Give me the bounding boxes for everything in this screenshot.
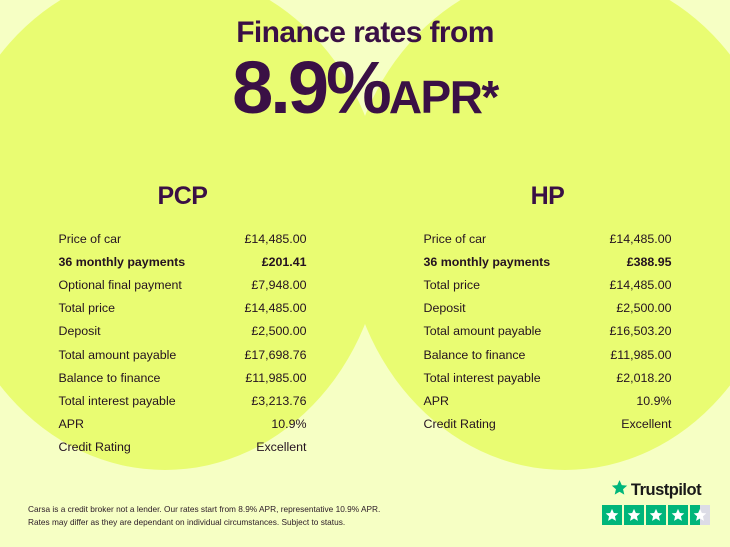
trustpilot-star-filled bbox=[624, 505, 644, 525]
row-label: 36 monthly payments bbox=[59, 255, 186, 269]
trustpilot-rating-widget[interactable]: Trustpilot bbox=[600, 479, 712, 525]
row-label: Total price bbox=[424, 278, 480, 292]
table-row: Deposit£2,500.00 bbox=[424, 297, 672, 320]
table-row: Total amount payable£16,503.20 bbox=[424, 320, 672, 343]
table-row: Total price£14,485.00 bbox=[59, 297, 307, 320]
row-label: Total amount payable bbox=[59, 348, 177, 362]
row-label: Deposit bbox=[59, 324, 101, 338]
legal-disclaimer: Carsa is a credit broker not a lender. O… bbox=[28, 503, 498, 529]
plan-title: PCP bbox=[0, 182, 365, 211]
trustpilot-star-filled bbox=[668, 505, 688, 525]
page-title: Finance rates from bbox=[0, 16, 730, 49]
table-row: Credit RatingExcellent bbox=[424, 413, 672, 436]
row-value: £2,018.20 bbox=[616, 371, 671, 385]
row-label: 36 monthly payments bbox=[424, 255, 551, 269]
row-value: £17,698.76 bbox=[244, 348, 306, 362]
row-label: Total interest payable bbox=[59, 394, 176, 408]
hero-rate-unit: APR* bbox=[389, 71, 498, 123]
table-row: Optional final payment£7,948.00 bbox=[59, 273, 307, 296]
row-value: £388.95 bbox=[627, 255, 672, 269]
table-row: Total interest payable£2,018.20 bbox=[424, 366, 672, 389]
row-value: 10.9% bbox=[636, 394, 671, 408]
row-label: Price of car bbox=[59, 232, 122, 246]
row-value: £7,948.00 bbox=[251, 278, 306, 292]
trustpilot-star-icon bbox=[611, 479, 628, 501]
row-value: £11,985.00 bbox=[610, 348, 671, 362]
finance-plans-comparison: PCPPrice of car£14,485.0036 monthly paym… bbox=[0, 182, 730, 459]
row-value: £14,485.00 bbox=[609, 232, 671, 246]
hero-rate-figure: 8.9% bbox=[232, 46, 389, 129]
trustpilot-stars bbox=[600, 505, 712, 525]
trustpilot-brand: Trustpilot bbox=[600, 479, 712, 501]
table-row: Price of car£14,485.00 bbox=[424, 227, 672, 250]
row-value: £3,213.76 bbox=[251, 394, 306, 408]
table-row: Total price£14,485.00 bbox=[424, 273, 672, 296]
row-value: £14,485.00 bbox=[609, 278, 671, 292]
table-row: Price of car£14,485.00 bbox=[59, 227, 307, 250]
row-label: Credit Rating bbox=[59, 440, 131, 454]
row-value: £14,485.00 bbox=[244, 301, 306, 315]
row-label: Price of car bbox=[424, 232, 487, 246]
row-value: £11,985.00 bbox=[245, 371, 306, 385]
row-value: 10.9% bbox=[271, 417, 306, 431]
trustpilot-star-half bbox=[690, 505, 710, 525]
legal-line-1: Carsa is a credit broker not a lender. O… bbox=[28, 503, 498, 516]
finance-rates-promo-card: Finance rates from 8.9%APR* PCPPrice of … bbox=[0, 0, 730, 547]
table-row: Balance to finance£11,985.00 bbox=[424, 343, 672, 366]
table-row: Deposit£2,500.00 bbox=[59, 320, 307, 343]
row-value: £2,500.00 bbox=[251, 324, 306, 338]
trustpilot-star-filled bbox=[602, 505, 622, 525]
plan-rows: Price of car£14,485.0036 monthly payment… bbox=[424, 227, 672, 436]
table-row: Credit RatingExcellent bbox=[59, 436, 307, 459]
row-value: Excellent bbox=[621, 417, 671, 431]
row-label: Balance to finance bbox=[59, 371, 161, 385]
row-value: Excellent bbox=[256, 440, 306, 454]
row-label: Optional final payment bbox=[59, 278, 182, 292]
finance-plan-hp: HPPrice of car£14,485.0036 monthly payme… bbox=[365, 182, 730, 459]
trustpilot-star-filled bbox=[646, 505, 666, 525]
table-row: 36 monthly payments£201.41 bbox=[59, 250, 307, 273]
table-row: APR10.9% bbox=[424, 389, 672, 412]
row-label: Total interest payable bbox=[424, 371, 541, 385]
row-label: Balance to finance bbox=[424, 348, 526, 362]
row-label: Total price bbox=[59, 301, 115, 315]
trustpilot-wordmark: Trustpilot bbox=[631, 481, 701, 500]
plan-rows: Price of car£14,485.0036 monthly payment… bbox=[59, 227, 307, 459]
table-row: Total amount payable£17,698.76 bbox=[59, 343, 307, 366]
header: Finance rates from 8.9%APR* bbox=[0, 0, 730, 125]
plan-title: HP bbox=[365, 182, 730, 211]
row-label: Deposit bbox=[424, 301, 466, 315]
table-row: Balance to finance£11,985.00 bbox=[59, 366, 307, 389]
table-row: 36 monthly payments£388.95 bbox=[424, 250, 672, 273]
table-row: APR10.9% bbox=[59, 413, 307, 436]
row-label: Credit Rating bbox=[424, 417, 496, 431]
row-value: £201.41 bbox=[262, 255, 307, 269]
row-label: APR bbox=[59, 417, 84, 431]
row-value: £16,503.20 bbox=[609, 324, 671, 338]
row-label: Total amount payable bbox=[424, 324, 542, 338]
legal-line-2: Rates may differ as they are dependant o… bbox=[28, 516, 498, 529]
hero-rate: 8.9%APR* bbox=[0, 51, 730, 125]
row-value: £14,485.00 bbox=[244, 232, 306, 246]
table-row: Total interest payable£3,213.76 bbox=[59, 389, 307, 412]
row-value: £2,500.00 bbox=[616, 301, 671, 315]
row-label: APR bbox=[424, 394, 449, 408]
finance-plan-pcp: PCPPrice of car£14,485.0036 monthly paym… bbox=[0, 182, 365, 459]
